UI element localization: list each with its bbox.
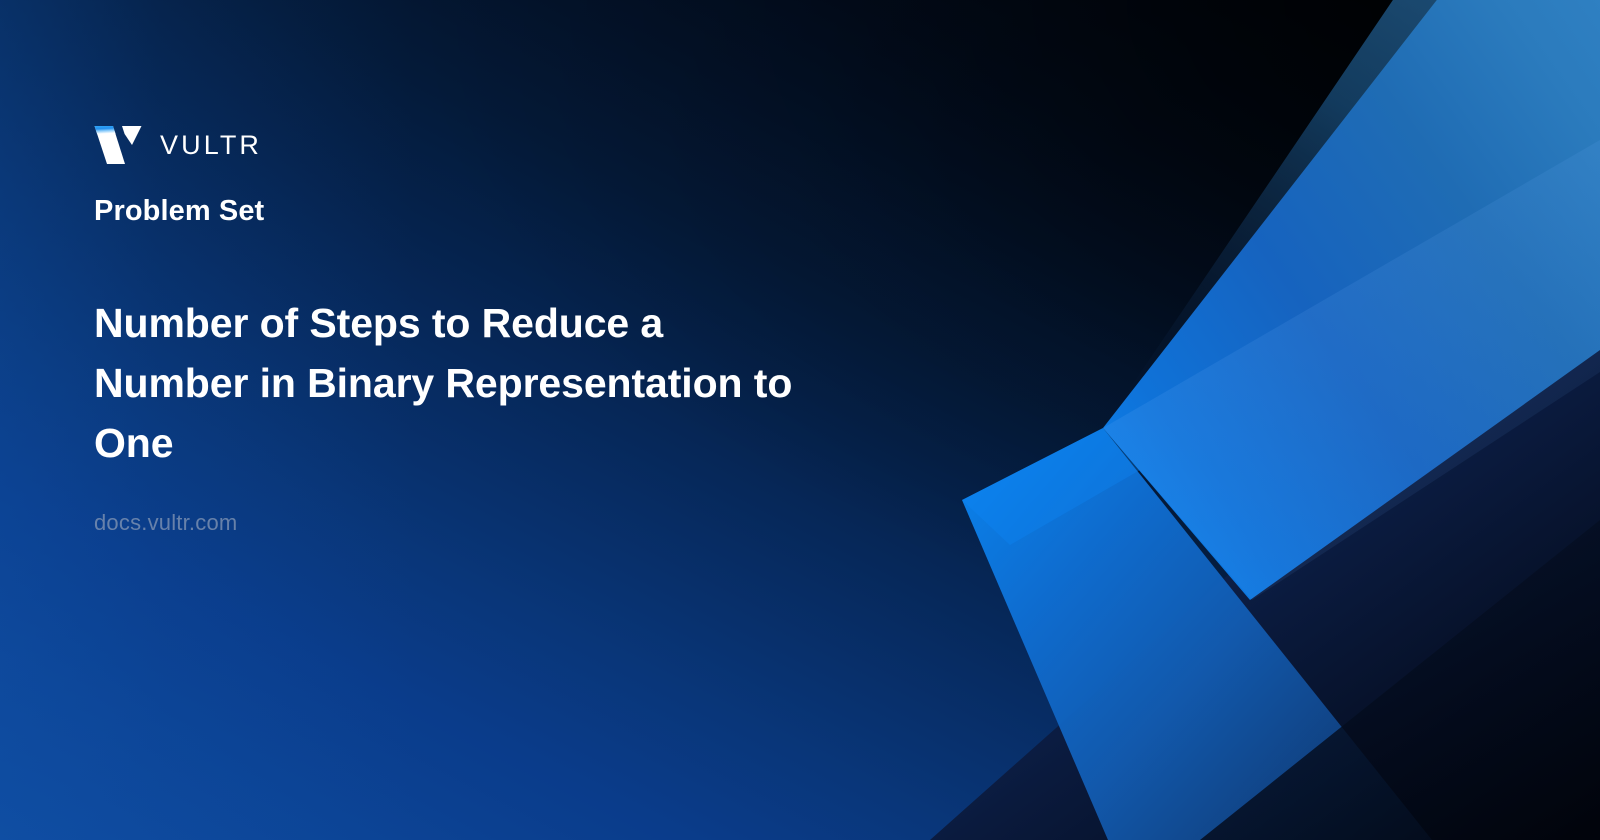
vultr-wordmark: VULTR — [160, 132, 262, 159]
vultr-logo[interactable]: VULTR — [94, 123, 262, 167]
vultr-v-logo-icon — [94, 123, 142, 167]
og-card: VULTR Problem Set Number of Steps to Red… — [0, 0, 1600, 840]
footer-site-url: docs.vultr.com — [94, 510, 237, 536]
card-eyebrow-label: Problem Set — [94, 193, 264, 229]
page-title: Number of Steps to Reduce a Number in Bi… — [94, 293, 814, 473]
card-content: VULTR Problem Set Number of Steps to Red… — [94, 0, 854, 840]
